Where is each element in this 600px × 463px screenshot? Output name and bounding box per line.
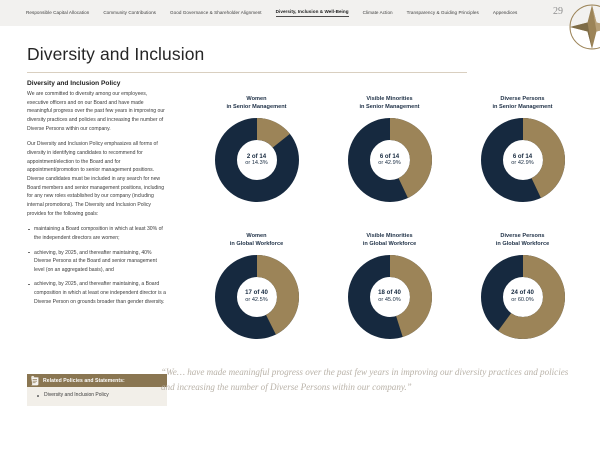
policy-paragraph-1: We are committed to diversity among our … [27,90,167,133]
donut-chart: 6 of 14 or 42.9% [348,118,432,202]
chart-title-line-2: in Global Workforce [496,241,549,249]
page-number: 29 [553,6,563,17]
chart-title: Women in Senior Management [226,96,286,112]
donut-chart: 24 of 40 or 60.0% [481,255,565,339]
chart-title: Diverse Persons in Senior Management [492,96,552,112]
chart-visible-minorities-global-workforce: Visible Minorities in Global Workforce 1… [323,233,456,339]
policy-heading: Diversity and Inclusion Policy [27,80,167,87]
chart-title-line-1: Visible Minorities [363,233,416,241]
donut-chart: 18 of 40 or 45.0% [348,255,432,339]
policy-goal-item: maintaining a Board composition in which… [27,225,167,242]
chart-diverse-persons-senior-management: Diverse Persons in Senior Management 6 o… [456,96,589,202]
chart-women-senior-management: Women in Senior Management 2 of 14 or 14… [190,96,323,202]
nav-item-appendices[interactable]: Appendices [493,10,518,17]
diversity-charts-grid: Women in Senior Management 2 of 14 or 14… [190,96,590,339]
chart-title-line-2: in Global Workforce [230,241,283,249]
chart-title: Visible Minorities in Senior Management [359,96,419,112]
chart-title-line-2: in Senior Management [359,104,419,112]
chart-row-senior-management: Women in Senior Management 2 of 14 or 14… [190,96,590,202]
chart-title: Women in Global Workforce [230,233,283,249]
top-navigation-bar: Responsible Capital Allocation Community… [0,0,600,26]
policy-text-column: Diversity and Inclusion Policy We are co… [27,80,167,312]
policy-goals-list: maintaining a Board composition in which… [27,225,167,306]
pull-quote: “We… have made meaningful progress over … [161,365,576,394]
nav-item-community-contributions[interactable]: Community Contributions [103,10,156,17]
nav-item-climate-action[interactable]: Climate Action [363,10,393,17]
chart-row-spacer [190,202,590,233]
chart-title-line-2: in Global Workforce [363,241,416,249]
chart-title-line-1: Diverse Persons [492,96,552,104]
chart-title: Visible Minorities in Global Workforce [363,233,416,249]
chart-women-global-workforce: Women in Global Workforce 17 of 40 or 42… [190,233,323,339]
policy-goal-item: achieving, by 2025, and thereafter maint… [27,249,167,275]
chart-title-line-1: Visible Minorities [359,96,419,104]
title-divider [27,72,467,73]
star-compass-logo-icon [569,4,600,50]
related-policies-title: Related Policies and Statements: [43,378,125,384]
nav-item-diversity-inclusion-well-being[interactable]: Diversity, Inclusion & Well-Being [276,9,349,17]
chart-title-line-2: in Senior Management [492,104,552,112]
policy-goal-item: achieving, by 2025, and thereafter maint… [27,280,167,306]
chart-title-line-1: Diverse Persons [496,233,549,241]
donut-svg [348,118,432,202]
donut-chart: 17 of 40 or 42.5% [215,255,299,339]
chart-row-global-workforce: Women in Global Workforce 17 of 40 or 42… [190,233,590,339]
related-policies-body: Diversity and Inclusion Policy [27,387,167,406]
chart-title: Diverse Persons in Global Workforce [496,233,549,249]
chart-diverse-persons-global-workforce: Diverse Persons in Global Workforce 24 o… [456,233,589,339]
policy-paragraph-2: Our Diversity and Inclusion Policy empha… [27,140,167,218]
donut-svg [348,255,432,339]
donut-svg [481,255,565,339]
nav-item-transparency-guiding-principles[interactable]: Transparency & Guiding Principles [407,10,479,17]
chart-title-line-1: Women [230,233,283,241]
donut-svg [215,118,299,202]
donut-svg [215,255,299,339]
document-scroll-icon [29,374,42,387]
chart-title-line-2: in Senior Management [226,104,286,112]
donut-svg [481,118,565,202]
chart-visible-minorities-senior-management: Visible Minorities in Senior Management … [323,96,456,202]
chart-title-line-1: Women [226,96,286,104]
related-policy-link[interactable]: Diversity and Inclusion Policy [37,392,161,400]
page-title: Diversity and Inclusion [27,44,204,65]
related-policies-box: Related Policies and Statements: Diversi… [27,374,167,406]
donut-chart: 2 of 14 or 14.3% [215,118,299,202]
related-policies-header: Related Policies and Statements: [27,374,167,387]
nav-item-responsible-capital-allocation[interactable]: Responsible Capital Allocation [26,10,89,17]
donut-chart: 6 of 14 or 42.9% [481,118,565,202]
nav-item-good-governance-shareholder-alignment[interactable]: Good Governance & Shareholder Alignment [170,10,262,17]
nav-item-list: Responsible Capital Allocation Community… [0,9,531,17]
